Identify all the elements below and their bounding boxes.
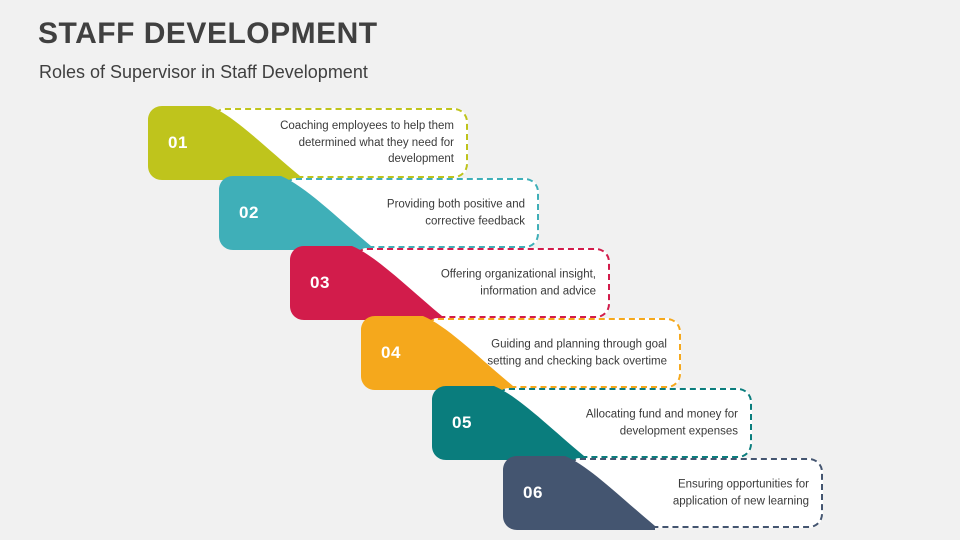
step-05[interactable]: Allocating fund and money for developmen… bbox=[432, 386, 752, 460]
step-number-02: 02 bbox=[239, 203, 259, 223]
step-04[interactable]: Guiding and planning through goal settin… bbox=[361, 316, 681, 390]
staircase-diagram: Coaching employees to help them determin… bbox=[0, 0, 960, 540]
step-03[interactable]: Offering organizational insight, informa… bbox=[290, 246, 610, 320]
step-number-01: 01 bbox=[168, 133, 188, 153]
step-number-05: 05 bbox=[452, 413, 472, 433]
step-number-06: 06 bbox=[523, 483, 543, 503]
step-02[interactable]: Providing both positive and corrective f… bbox=[219, 176, 539, 250]
step-06[interactable]: Ensuring opportunities for application o… bbox=[503, 456, 823, 530]
step-01[interactable]: Coaching employees to help them determin… bbox=[148, 106, 468, 180]
step-number-04: 04 bbox=[381, 343, 401, 363]
step-number-03: 03 bbox=[310, 273, 330, 293]
